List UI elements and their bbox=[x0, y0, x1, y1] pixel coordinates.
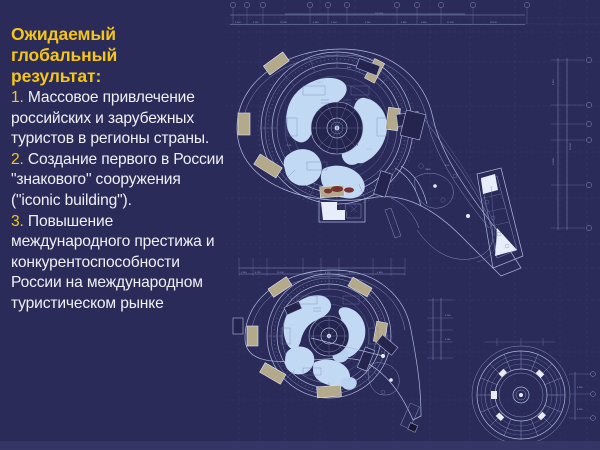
title-line-1: Ожидаемый bbox=[11, 24, 229, 45]
numbered-list: 1. Массовое привлечение российских и зар… bbox=[11, 88, 229, 315]
svg-text:4 100: 4 100 bbox=[331, 22, 337, 24]
svg-text:121 200: 121 200 bbox=[375, 13, 384, 15]
slide-bottom-edge bbox=[0, 441, 600, 450]
architectural-blueprint-image: .ln { fill:none; stroke:#aebbdd; stroke-… bbox=[225, 0, 600, 450]
svg-text:11 200: 11 200 bbox=[447, 22, 454, 24]
central-hub bbox=[311, 102, 363, 154]
list-item-number: 1. bbox=[11, 89, 24, 106]
list-item: 2. Создание первого в России "знакового"… bbox=[11, 150, 229, 212]
lower-central-hub bbox=[309, 316, 349, 356]
svg-text:3 200: 3 200 bbox=[235, 22, 241, 24]
svg-text:4 200: 4 200 bbox=[445, 315, 451, 317]
title-line-2: глобальный bbox=[11, 45, 229, 66]
list-item-number: 3. bbox=[11, 213, 24, 230]
list-item: 3. Повышение международного престижа и к… bbox=[11, 212, 229, 315]
svg-text:15 130: 15 130 bbox=[280, 22, 287, 24]
svg-text:9 200: 9 200 bbox=[365, 22, 371, 24]
list-item-text: Повышение международного престижа и конк… bbox=[11, 213, 214, 312]
svg-text:4 080: 4 080 bbox=[313, 22, 319, 24]
presentation-slide: .ln { fill:none; stroke:#aebbdd; stroke-… bbox=[0, 0, 600, 450]
svg-text:15.20: 15.20 bbox=[355, 99, 361, 101]
svg-text:ВХОД: ВХОД bbox=[321, 195, 327, 197]
svg-text:5 090: 5 090 bbox=[421, 22, 427, 24]
svg-text:8 200: 8 200 bbox=[553, 79, 555, 85]
slide-text-column: Ожидаемый глобальный результат: 1. Массо… bbox=[11, 24, 229, 315]
svg-text:6 200: 6 200 bbox=[577, 409, 583, 411]
title-line-3: результат: bbox=[11, 66, 229, 87]
list-item-number: 2. bbox=[11, 151, 24, 168]
svg-text:ПАРК: ПАРК bbox=[425, 168, 431, 171]
svg-text:4 490: 4 490 bbox=[377, 272, 383, 274]
list-item: 1. Массовое привлечение российских и зар… bbox=[11, 88, 229, 150]
slide-title: Ожидаемый глобальный результат: bbox=[11, 24, 229, 87]
svg-text:4 120: 4 120 bbox=[255, 272, 261, 274]
svg-text:ЗАЛ 1: ЗАЛ 1 bbox=[317, 81, 324, 84]
list-item-text: Массовое привлечение российских и зарубе… bbox=[11, 89, 209, 147]
svg-text:A-A: A-A bbox=[347, 66, 351, 69]
svg-text:3 100: 3 100 bbox=[241, 272, 247, 274]
svg-text:26 120: 26 120 bbox=[490, 22, 497, 24]
svg-text:32 500: 32 500 bbox=[570, 143, 572, 150]
list-item-text: Создание первого в России "знакового" со… bbox=[11, 151, 224, 209]
svg-text:4 120: 4 120 bbox=[253, 22, 259, 24]
svg-text:14 600: 14 600 bbox=[553, 158, 555, 165]
svg-text:4 490: 4 490 bbox=[401, 22, 407, 24]
svg-text:15 130: 15 130 bbox=[277, 272, 284, 274]
svg-text:6 180: 6 180 bbox=[445, 339, 451, 341]
svg-text:6 200: 6 200 bbox=[577, 387, 583, 389]
